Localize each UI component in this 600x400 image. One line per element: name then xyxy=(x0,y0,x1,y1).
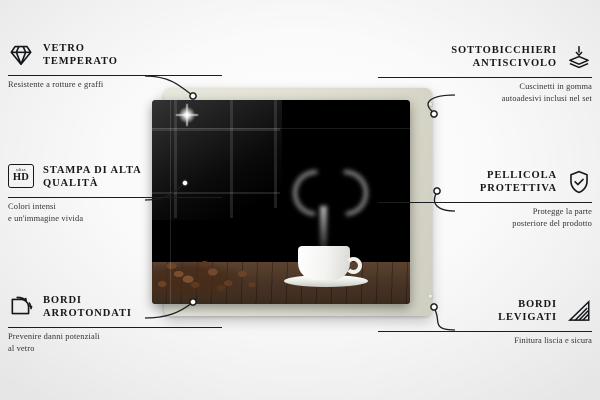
feature-title: VETRO TEMPERATO xyxy=(43,42,118,69)
feature-subtitle: Protegge la parte posteriore del prodott… xyxy=(378,206,592,229)
feature-title: SOTTOBICCHIERI ANTISCIVOLO xyxy=(451,44,557,71)
feature-rule xyxy=(8,197,222,198)
feature-header: PELLICOLA PROTETTIVA xyxy=(378,165,592,199)
feature-subtitle: Resistente a rotture e graffi xyxy=(8,79,222,91)
feature-subtitle: Finitura liscia e sicura xyxy=(378,335,592,347)
hd-badge-large-label: HD xyxy=(13,173,29,184)
feature-subtitle: Cuscinetti in gomma autoadesivi inclusi … xyxy=(378,81,592,104)
anti-slip-pad-icon xyxy=(566,44,592,70)
feature-bordi-levigati: BORDI LEVIGATI Finitura liscia e sicura xyxy=(378,294,592,347)
feature-subtitle: Prevenire danni potenziali al vetro xyxy=(8,331,222,354)
hatched-edge-icon xyxy=(566,298,592,324)
feature-sottobicchieri-antiscivolo: SOTTOBICCHIERI ANTISCIVOLO Cuscinetti in… xyxy=(378,40,592,105)
feature-subtitle: Colori intensi e un'immagine vivida xyxy=(8,201,222,224)
feature-header: SOTTOBICCHIERI ANTISCIVOLO xyxy=(378,40,592,74)
feature-title: BORDI LEVIGATI xyxy=(498,298,557,325)
sparkle-icon xyxy=(176,104,198,126)
feature-title: STAMPA DI ALTA QUALITÀ xyxy=(43,164,142,191)
feature-rule xyxy=(378,202,592,203)
feature-rule xyxy=(8,327,222,328)
feature-header: ultra HD STAMPA DI ALTA QUALITÀ xyxy=(8,160,222,194)
diamond-icon xyxy=(8,42,34,68)
feature-title: PELLICOLA PROTETTIVA xyxy=(480,169,557,196)
feature-bordi-arrotondati: BORDI ARROTONDATI Prevenire danni potenz… xyxy=(8,290,222,355)
feature-header: BORDI LEVIGATI xyxy=(378,294,592,328)
feature-vetro-temperato: VETRO TEMPERATO Resistente a rotture e g… xyxy=(8,38,222,91)
feature-title: BORDI ARROTONDATI xyxy=(43,294,132,321)
feature-header: VETRO TEMPERATO xyxy=(8,38,222,72)
feature-rule xyxy=(378,331,592,332)
ultra-hd-badge-icon: ultra HD xyxy=(8,164,34,190)
shield-check-icon xyxy=(566,169,592,195)
feature-stampa-alta-qualita: ultra HD STAMPA DI ALTA QUALITÀ Colori i… xyxy=(8,160,222,225)
feature-header: BORDI ARROTONDATI xyxy=(8,290,222,324)
feature-rule xyxy=(8,75,222,76)
feature-pellicola-protettiva: PELLICOLA PROTETTIVA Protegge la parte p… xyxy=(378,165,592,230)
rounded-corner-icon xyxy=(8,294,34,320)
feature-rule xyxy=(378,77,592,78)
